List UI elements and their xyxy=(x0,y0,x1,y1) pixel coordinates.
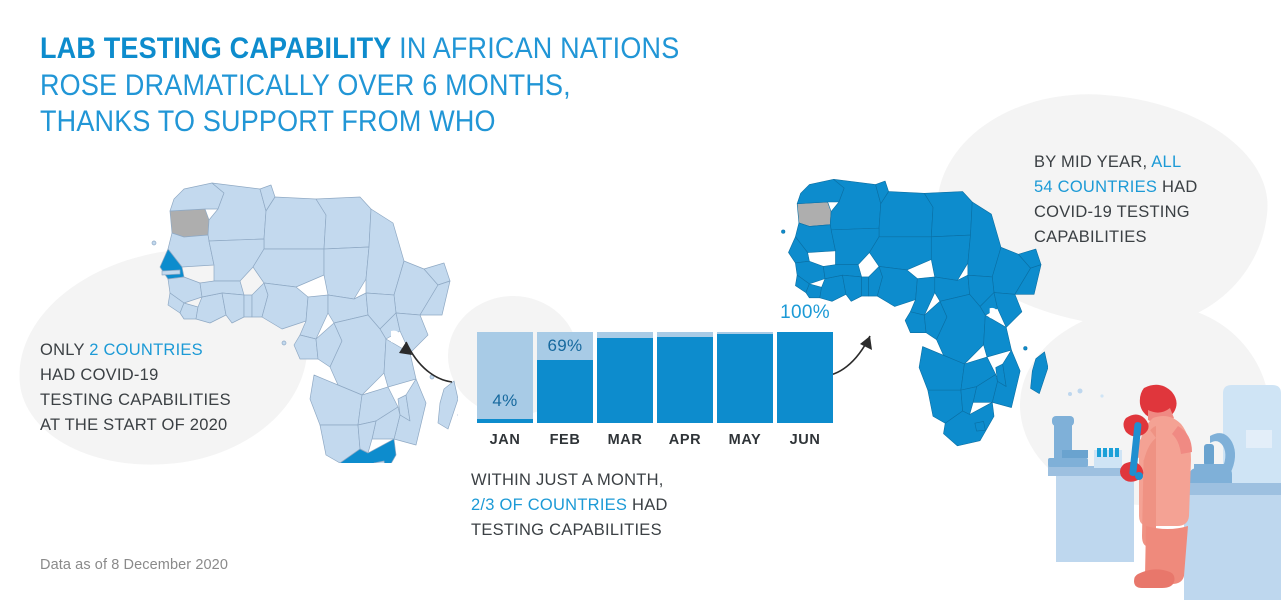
island-sao-tome xyxy=(282,341,286,345)
country-ghana xyxy=(842,275,861,301)
caption-within-a-month: WITHIN JUST A MONTH, 2/3 OF COUNTRIES HA… xyxy=(471,468,668,543)
caption-right-l2b: HAD xyxy=(1157,178,1197,196)
test-tube-4 xyxy=(1115,448,1119,457)
bar-fill-jan xyxy=(477,419,533,423)
caption-start-of-2020: ONLY 2 COUNTRIES HAD COVID-19 TESTING CA… xyxy=(40,338,231,438)
headline-emphasis: LAB TESTING CAPABILITY xyxy=(40,32,391,65)
decor-dot-3 xyxy=(1100,394,1103,397)
country-libya xyxy=(879,192,933,237)
caption-right-highlight-all: ALL xyxy=(1151,153,1181,171)
lab-bench-right-body xyxy=(1184,495,1281,600)
headline-line-1-rest: IN AFRICAN NATIONS xyxy=(391,32,679,65)
arrow-to-left-map xyxy=(392,322,456,397)
country-mali xyxy=(831,228,879,265)
headline-line-1: LAB TESTING CAPABILITY IN AFRICAN NATION… xyxy=(40,31,679,68)
page-title: LAB TESTING CAPABILITY IN AFRICAN NATION… xyxy=(40,31,750,141)
island-comoros xyxy=(1024,347,1027,350)
caption-mid-year: BY MID YEAR, ALL 54 COUNTRIES HAD COVID-… xyxy=(1034,150,1198,250)
country-gambia xyxy=(162,270,180,275)
caption-left-line-3: TESTING CAPABILITIES xyxy=(40,388,231,413)
country-western-sahara xyxy=(797,202,831,226)
axis-label-apr: APR xyxy=(657,432,713,448)
infographic-canvas: LAB TESTING CAPABILITY IN AFRICAN NATION… xyxy=(0,0,1281,600)
bar-fill-apr xyxy=(657,337,713,423)
lake-victoria xyxy=(990,308,998,319)
country-chad xyxy=(931,235,970,280)
bar-value-feb: 69% xyxy=(537,336,593,356)
caption-right-line-2: 54 COUNTRIES HAD xyxy=(1034,175,1198,200)
caption-left-line-2: HAD COVID-19 xyxy=(40,363,231,388)
bar-value-jun: 100% xyxy=(777,302,833,324)
technician-shoe xyxy=(1134,569,1175,588)
caption-right-line-1: BY MID YEAR, ALL xyxy=(1034,150,1198,175)
lab-instrument-stage xyxy=(1062,450,1088,458)
bar-chart: 4% 69% 100% xyxy=(477,332,833,448)
country-western-sahara xyxy=(170,209,209,237)
axis-label-feb: FEB xyxy=(537,432,593,448)
country-niger xyxy=(253,249,324,287)
lab-instrument-base xyxy=(1048,458,1088,467)
caption-right-line-3: COVID-19 TESTING xyxy=(1034,200,1198,225)
caption-bottom-line-1: WITHIN JUST A MONTH, xyxy=(471,468,668,493)
microscope-base xyxy=(1190,468,1232,483)
country-mali xyxy=(209,239,264,281)
country-morocco xyxy=(797,179,844,203)
decor-dot-2 xyxy=(1078,389,1083,394)
data-source-note: Data as of 8 December 2020 xyxy=(40,557,228,573)
decor-dot-1 xyxy=(1068,392,1072,396)
bar-column-may[interactable] xyxy=(717,332,773,423)
caption-bottom-highlight: 2/3 OF COUNTRIES xyxy=(471,496,627,514)
headline-line-3: THANKS TO SUPPORT FROM WHO xyxy=(40,104,679,141)
country-liberia xyxy=(806,284,822,298)
country-chad xyxy=(324,247,369,299)
caption-left-highlight: 2 COUNTRIES xyxy=(89,341,203,359)
pipette-tip xyxy=(1135,472,1143,480)
caption-right-highlight-54: 54 COUNTRIES xyxy=(1034,178,1157,196)
bar-fill-feb xyxy=(537,360,593,423)
axis-label-jan: JAN xyxy=(477,432,533,448)
lab-bench-right-top xyxy=(1176,483,1281,495)
island-cape-verde xyxy=(781,230,784,233)
test-tube-3 xyxy=(1109,448,1113,457)
caption-bottom-line-2: 2/3 OF COUNTRIES HAD xyxy=(471,493,668,518)
caption-bottom-l2b: HAD xyxy=(627,496,667,514)
bar-fill-may xyxy=(717,334,773,423)
country-drc xyxy=(330,315,386,395)
country-liberia xyxy=(180,303,198,319)
country-togo xyxy=(244,295,252,317)
test-tube-1 xyxy=(1097,448,1101,457)
bar-column-jun[interactable]: 100% xyxy=(777,332,833,423)
bar-fill-jun xyxy=(777,332,833,423)
test-tube-2 xyxy=(1103,448,1107,457)
country-gabon xyxy=(905,312,926,333)
country-morocco xyxy=(170,183,224,211)
country-gabon xyxy=(294,335,318,359)
bar-chart-bars: 4% 69% 100% xyxy=(477,332,833,423)
axis-label-mar: MAR xyxy=(597,432,653,448)
lab-technician-scene xyxy=(1018,378,1281,600)
bar-value-jan: 4% xyxy=(477,391,533,411)
axis-label-jun: JUN xyxy=(777,432,833,448)
bar-column-mar[interactable] xyxy=(597,332,653,423)
caption-left-l1a: ONLY xyxy=(40,341,89,359)
axis-label-may: MAY xyxy=(717,432,773,448)
caption-left-line-1: ONLY 2 COUNTRIES xyxy=(40,338,231,363)
country-ghana xyxy=(222,293,244,323)
bar-column-jan[interactable]: 4% xyxy=(477,332,533,423)
bar-column-apr[interactable] xyxy=(657,332,713,423)
country-nigeria xyxy=(877,266,917,306)
country-niger xyxy=(869,237,931,270)
bar-fill-mar xyxy=(597,338,653,423)
microscope-body xyxy=(1204,444,1214,466)
caption-bottom-line-3: TESTING CAPABILITIES xyxy=(471,518,668,543)
lab-bench-left-body xyxy=(1056,476,1134,562)
lab-cabinet-shelf xyxy=(1246,430,1272,448)
country-lesotho xyxy=(975,421,985,431)
country-drc xyxy=(937,294,986,364)
caption-left-line-4: AT THE START OF 2020 xyxy=(40,413,231,438)
country-togo xyxy=(862,277,869,296)
country-nigeria xyxy=(262,283,308,329)
lab-instrument-head xyxy=(1052,416,1074,426)
bar-column-feb[interactable]: 69% xyxy=(537,332,593,423)
bar-chart-axis-labels: JAN FEB MAR APR MAY JUN xyxy=(477,432,833,448)
island-cape-verde xyxy=(152,241,156,245)
country-libya xyxy=(264,197,326,249)
caption-right-line-4: CAPABILITIES xyxy=(1034,225,1198,250)
caption-right-l1a: BY MID YEAR, xyxy=(1034,153,1151,171)
country-kenya xyxy=(994,293,1022,328)
headline-line-2: ROSE DRAMATICALLY OVER 6 MONTHS, xyxy=(40,68,679,105)
